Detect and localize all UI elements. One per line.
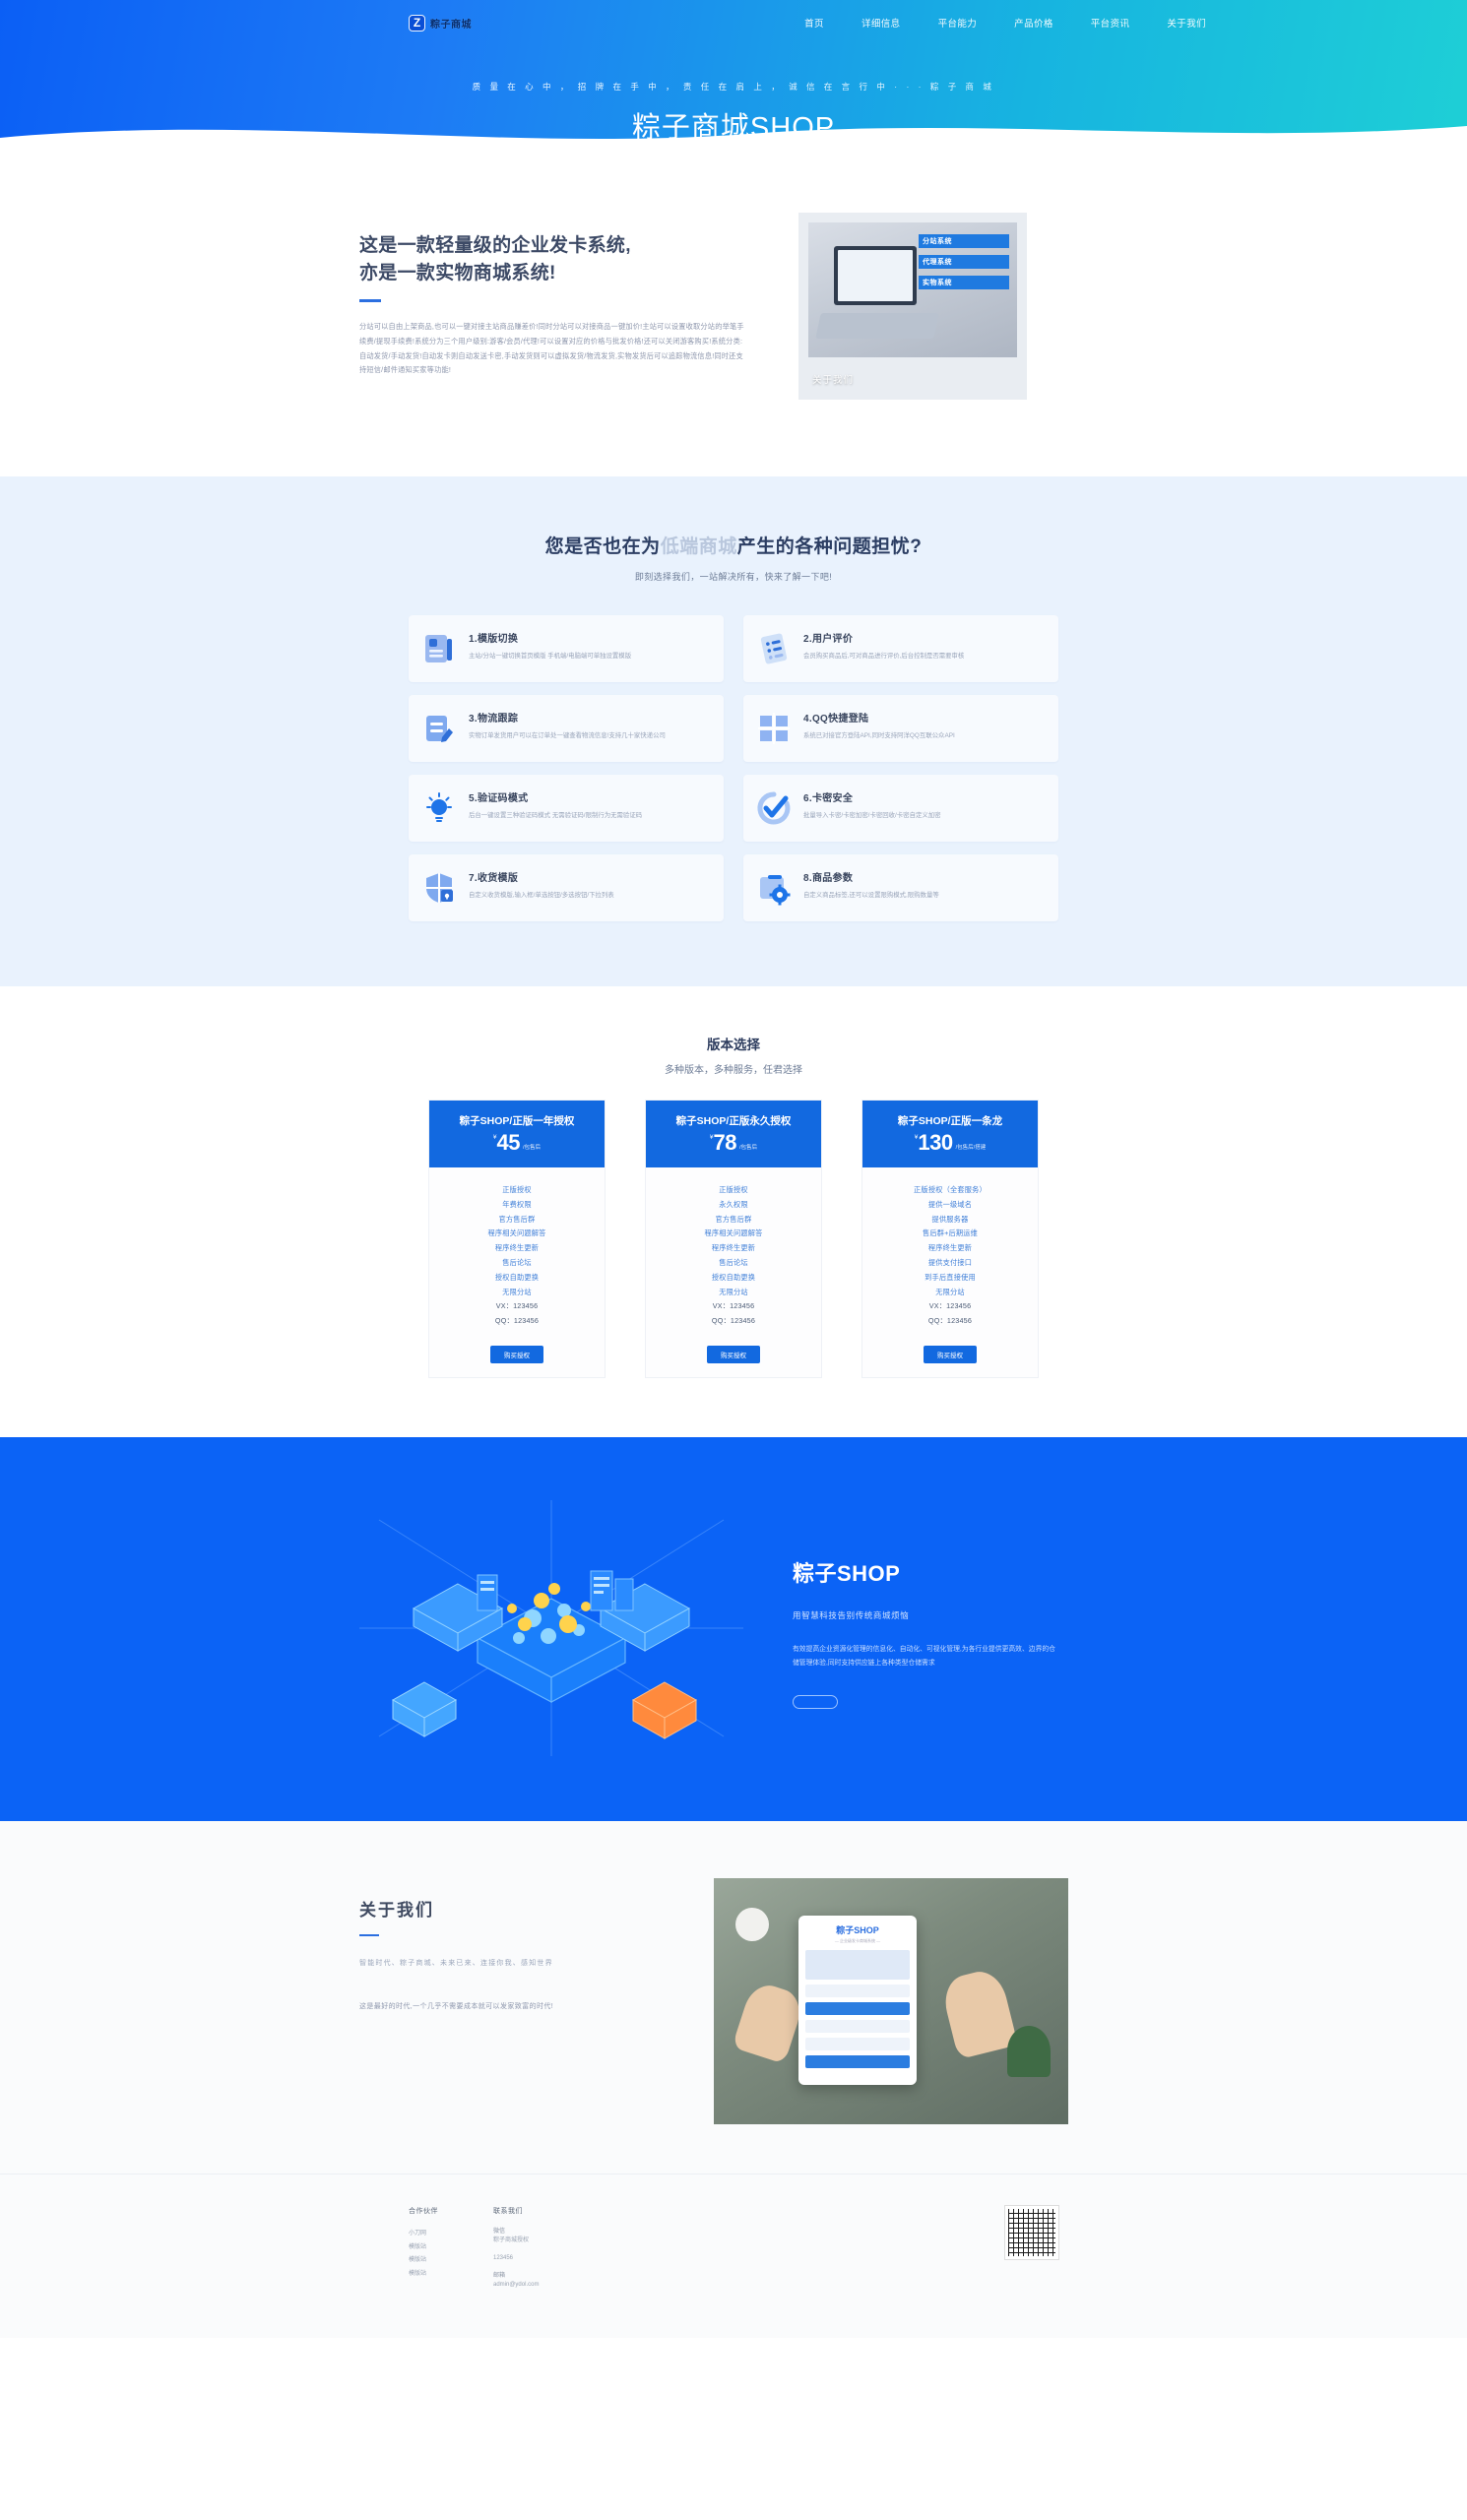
tablet-row	[805, 1984, 910, 1997]
tablet-row-highlight	[805, 2002, 910, 2015]
cta-learn-more-button[interactable]	[793, 1695, 838, 1709]
intro-rule	[359, 299, 381, 302]
brand-mark-icon: Z	[409, 15, 425, 31]
tablet-logo-main: 粽子	[836, 1925, 854, 1935]
footer-contact-wechat: 微信 粽子商城授权	[493, 2228, 539, 2245]
tablet-mockup: 粽子SHOP — 企业级发卡商城系统 —	[798, 1916, 917, 2085]
footer-contact-label: 邮箱	[493, 2272, 539, 2281]
plan-feature: 授权自助更换	[437, 1271, 597, 1286]
plan-feature: 提供服务器	[870, 1213, 1030, 1228]
plan-feature: 售后群+后期运维	[870, 1227, 1030, 1241]
intro-paragraph: 分站可以自由上架商品,也可以一键对接主站商品赚差价!同时分站可以对接商品一键加价…	[359, 320, 745, 378]
feature-desc: 主站/分站一键切换首页模版 手机端/电脑端可单独设置模版	[469, 651, 631, 661]
plant-prop	[1007, 2026, 1051, 2077]
problems-title-pre: 您是否也在为	[545, 536, 661, 557]
plan-features: 正版授权 年费权限 官方售后群 程序相关问题解答 程序终生更新 售后论坛 授权自…	[429, 1167, 605, 1339]
plan-feature: 无限分站	[654, 1286, 813, 1300]
footer-contact-label: 微信	[493, 2228, 539, 2236]
nav-item-pricing[interactable]: 产品价格	[1014, 16, 1053, 30]
plan-contact-vx: VX：123456	[654, 1299, 813, 1314]
plan-contact-vx: VX：123456	[437, 1299, 597, 1314]
plan-header: 粽子SHOP/正版一条龙 ¥ 130 /包售后/搭建	[862, 1101, 1038, 1167]
intro-text-block: 这是一款轻量级的企业发卡系统, 亦是一款实物商城系统! 分站可以自由上架商品,也…	[359, 213, 745, 378]
feature-desc: 实物订单发货用户可以在订单处一键查看物流信息!支持几十家快递公司	[469, 730, 666, 741]
about-rule	[359, 1934, 379, 1937]
cta-heading: 粽子SHOP	[793, 1556, 1058, 1588]
plan-feature: 年费权限	[437, 1198, 597, 1213]
footer-contact-email: 邮箱 admin@ydol.com	[493, 2272, 539, 2290]
footer-contact-column: 联系我们 微信 粽子商城授权 123456 邮箱 admin@ydol.com	[493, 2206, 539, 2299]
top-navbar: Z 粽子商城 首页 详细信息 平台能力 产品价格 平台资讯 关于我们	[153, 0, 1314, 45]
cta-subheading: 用智慧科技告别传统商城烦恼	[793, 1609, 1058, 1621]
landing-page: Z 粽子商城 首页 详细信息 平台能力 产品价格 平台资讯 关于我们 质 量 在…	[0, 0, 1467, 2338]
edit-doc-icon	[421, 711, 457, 746]
plan-name: 粽子SHOP/正版一年授权	[439, 1113, 595, 1129]
plan-currency: ¥	[493, 1134, 497, 1141]
check-icon	[756, 790, 792, 826]
plan-features: 正版授权 永久权限 官方售后群 程序相关问题解答 程序终生更新 售后论坛 授权自…	[646, 1167, 821, 1339]
pricing-plan-list: 粽子SHOP/正版一年授权 ¥ 45 /包售后 正版授权 年费权限 官方售后群 …	[428, 1100, 1039, 1378]
plan-feature: 授权自助更换	[654, 1271, 813, 1286]
buy-license-button[interactable]: 购买授权	[707, 1346, 760, 1363]
screenshot-label-3: 实物系统	[919, 276, 1009, 289]
qr-code-icon	[1005, 2206, 1058, 2259]
plan-period: /包售后/搭建	[956, 1143, 987, 1151]
tablet-row-highlight	[805, 2055, 910, 2068]
plan-feature: 正版授权	[437, 1183, 597, 1198]
plan-feature: 正版授权	[654, 1183, 813, 1198]
brand-name: 粽子商城	[430, 16, 472, 31]
nav-item-platform[interactable]: 平台能力	[938, 16, 978, 30]
coffee-cup-prop	[735, 1908, 769, 1941]
book-icon	[421, 631, 457, 666]
plan-currency: ¥	[915, 1134, 919, 1141]
buy-license-button[interactable]: 购买授权	[924, 1346, 977, 1363]
plan-feature: 官方售后群	[654, 1213, 813, 1228]
problems-title-muted: 低端商城	[661, 536, 737, 557]
feature-card-user-reviews[interactable]: 2.用户评价 会员购买商品后,可对商品进行评价,后台控制是否需要审核	[743, 615, 1058, 682]
plan-feature: 程序终生更新	[654, 1241, 813, 1256]
feature-title: 5.验证码模式	[469, 789, 642, 804]
plan-price: ¥ 45 /包售后	[439, 1133, 595, 1154]
about-paragraph: 这是最好的时代,一个几乎不需要成本就可以发家致富的时代!	[359, 2001, 655, 2011]
keyboard-icon	[815, 313, 939, 339]
intro-screenshot-card: 分站系统 代理系统 实物系统 关于我们	[798, 213, 1027, 400]
feature-title: 8.商品参数	[803, 869, 939, 884]
pricing-subtitle: 多种版本，多种服务，任君选择	[0, 1061, 1467, 1076]
feature-desc: 会员购买商品后,可对商品进行评价,后台控制是否需要审核	[803, 651, 964, 661]
feature-desc: 批量导入卡密/卡密加密/卡密回收/卡密自定义加密	[803, 810, 941, 821]
screenshot-caption: 关于我们	[812, 372, 854, 386]
feature-title: 4.QQ快捷登陆	[803, 710, 955, 724]
about-text-block: 关于我们 智能时代、粽子商城、未来已来、连接你我、感知世界 这是最好的时代,一个…	[359, 1878, 655, 2012]
about-tagline: 智能时代、粽子商城、未来已来、连接你我、感知世界	[359, 1958, 655, 1968]
feature-card-qq-login[interactable]: 4.QQ快捷登陆 系统已对接官方登陆API,同时支持阿洋QQ互联公众API	[743, 695, 1058, 762]
tablet-hero-banner	[805, 1950, 910, 1980]
footer-partner-link[interactable]: 模版站	[409, 2254, 438, 2268]
plan-currency: ¥	[710, 1134, 714, 1141]
feature-card-delivery-template[interactable]: 7.收货模版 自定义收货模版,输入框/单选按钮/多选按钮/下拉列表	[409, 854, 724, 921]
intro-section: 这是一款轻量级的企业发卡系统, 亦是一款实物商城系统! 分站可以自由上架商品,也…	[0, 150, 1467, 476]
shield-icon	[421, 870, 457, 906]
hero-section: Z 粽子商城 首页 详细信息 平台能力 产品价格 平台资讯 关于我们 质 量 在…	[0, 0, 1467, 150]
feature-desc: 系统已对接官方登陆API,同时支持阿洋QQ互联公众API	[803, 730, 955, 741]
plan-header: 粽子SHOP/正版一年授权 ¥ 45 /包售后	[429, 1101, 605, 1167]
review-icon	[756, 631, 792, 666]
plan-feature: 售后论坛	[437, 1256, 597, 1271]
intro-heading: 这是一款轻量级的企业发卡系统, 亦是一款实物商城系统!	[359, 232, 745, 286]
plan-period: /包售后	[523, 1143, 541, 1151]
nav-item-news[interactable]: 平台资讯	[1091, 16, 1130, 30]
plan-contact-qq: QQ：123456	[654, 1314, 813, 1329]
feature-title: 7.收货模版	[469, 869, 614, 884]
plan-cta-wrap: 购买授权	[429, 1339, 605, 1377]
pricing-plan-full-service: 粽子SHOP/正版一条龙 ¥ 130 /包售后/搭建 正版授权（全套服务） 提供…	[861, 1100, 1039, 1378]
pricing-plan-one-year: 粽子SHOP/正版一年授权 ¥ 45 /包售后 正版授权 年费权限 官方售后群 …	[428, 1100, 606, 1378]
plan-feature: 到手后直接使用	[870, 1271, 1030, 1286]
screenshot-label-1: 分站系统	[919, 234, 1009, 248]
footer-partner-link[interactable]: 模版站	[409, 2241, 438, 2255]
feature-card-captcha[interactable]: 5.验证码模式 后台一键设置三种验证码模式 无需验证码/限制行为无需验证码	[409, 775, 724, 842]
plan-amount: 130	[918, 1133, 952, 1154]
feature-desc: 自定义商品标签,还可以设置限购模式,限购数量等	[803, 890, 939, 901]
about-heading: 关于我们	[359, 1896, 655, 1921]
tablet-row	[805, 2038, 910, 2050]
plan-cta-wrap: 购买授权	[862, 1339, 1038, 1377]
plan-price: ¥ 130 /包售后/搭建	[872, 1133, 1028, 1154]
plan-feature: 程序相关问题解答	[654, 1227, 813, 1241]
problems-section: 您是否也在为低端商城产生的各种问题担忧? 即刻选择我们，一站解决所有，快来了解一…	[0, 476, 1467, 986]
problems-title-post: 产生的各种问题担忧?	[737, 536, 923, 557]
hero-tagline: 质 量 在 心 中 ， 招 牌 在 手 中 ， 责 任 在 肩 上 ， 诚 信 …	[0, 81, 1467, 93]
tablet-logo: 粽子SHOP	[805, 1923, 910, 1936]
cta-text-block: 粽子SHOP 用智慧科技告别传统商城烦恼 有效提高企业资源化管理的信息化、自动化…	[793, 1546, 1058, 1709]
pricing-plan-permanent: 粽子SHOP/正版永久授权 ¥ 78 /包售后 正版授权 永久权限 官方售后群 …	[645, 1100, 822, 1378]
screenshot-image: 分站系统 代理系统 实物系统	[808, 222, 1017, 357]
footer-contact-title: 联系我们	[493, 2206, 539, 2216]
nav-item-about[interactable]: 关于我们	[1167, 16, 1206, 30]
plan-feature: 提供支付接口	[870, 1256, 1030, 1271]
plan-amount: 78	[714, 1133, 736, 1154]
feature-card-template-switch[interactable]: 1.模版切换 主站/分站一键切换首页模版 手机端/电脑端可单独设置模版	[409, 615, 724, 682]
footer-contact-value: admin@ydol.com	[493, 2282, 539, 2288]
plan-price: ¥ 78 /包售后	[656, 1133, 811, 1154]
footer-partner-link[interactable]: 小刀网	[409, 2228, 438, 2241]
plan-period: /包售后	[739, 1143, 757, 1151]
hero-title: 粽子商城SHOP	[0, 104, 1467, 146]
hand-right-prop	[939, 1967, 1018, 2060]
feature-title: 2.用户评价	[803, 630, 964, 645]
pricing-title: 版本选择	[0, 1034, 1467, 1053]
footer-partners-title: 合作伙伴	[409, 2206, 438, 2216]
footer-partner-link[interactable]: 模版站	[409, 2268, 438, 2282]
feature-card-grid: 1.模版切换 主站/分站一键切换首页模版 手机端/电脑端可单独设置模版 2.用户…	[409, 615, 1058, 921]
plan-feature: 程序终生更新	[437, 1241, 597, 1256]
site-footer: 合作伙伴 小刀网 模版站 模版站 模版站 联系我们 微信 粽子商城授权 1234…	[0, 2173, 1467, 2338]
screenshot-label-2: 代理系统	[919, 255, 1009, 269]
plan-feature: 正版授权（全套服务）	[870, 1183, 1030, 1198]
plan-feature: 程序终生更新	[870, 1241, 1030, 1256]
plan-cta-wrap: 购买授权	[646, 1339, 821, 1377]
pricing-section: 版本选择 多种版本，多种服务，任君选择 粽子SHOP/正版一年授权 ¥ 45 /…	[0, 986, 1467, 1437]
plan-features: 正版授权（全套服务） 提供一级域名 提供服务器 售后群+后期运维 程序终生更新 …	[862, 1167, 1038, 1339]
about-section: 关于我们 智能时代、粽子商城、未来已来、连接你我、感知世界 这是最好的时代,一个…	[0, 1821, 1467, 2173]
monitor-icon	[834, 246, 917, 305]
qq-grid-icon	[756, 711, 792, 746]
plan-feature: 程序相关问题解答	[437, 1227, 597, 1241]
tablet-logo-sub: — 企业级发卡商城系统 —	[805, 1938, 910, 1944]
about-photo: 粽子SHOP — 企业级发卡商城系统 —	[714, 1878, 1068, 2124]
feature-title: 6.卡密安全	[803, 789, 941, 804]
tablet-row	[805, 2020, 910, 2033]
plan-contact-qq: QQ：123456	[437, 1314, 597, 1329]
nav-item-home[interactable]: 首页	[804, 16, 824, 30]
plan-feature: 售后论坛	[654, 1256, 813, 1271]
plan-feature: 提供一级域名	[870, 1198, 1030, 1213]
plan-name: 粽子SHOP/正版一条龙	[872, 1113, 1028, 1129]
gear-box-icon	[756, 870, 792, 906]
footer-partners-column: 合作伙伴 小刀网 模版站 模版站 模版站	[409, 2206, 438, 2299]
problems-subtitle: 即刻选择我们，一站解决所有，快来了解一下吧!	[0, 570, 1467, 583]
plan-feature: 无限分站	[870, 1286, 1030, 1300]
plan-name: 粽子SHOP/正版永久授权	[656, 1113, 811, 1129]
feature-title: 3.物流跟踪	[469, 710, 666, 724]
feature-card-logistics[interactable]: 3.物流跟踪 实物订单发货用户可以在订单处一键查看物流信息!支持几十家快递公司	[409, 695, 724, 762]
feature-card-product-params[interactable]: 8.商品参数 自定义商品标签,还可以设置限购模式,限购数量等	[743, 854, 1058, 921]
plan-contact-vx: VX：123456	[870, 1299, 1030, 1314]
brand-logo[interactable]: Z 粽子商城	[409, 15, 472, 31]
plan-amount: 45	[497, 1133, 520, 1154]
feature-desc: 后台一键设置三种验证码模式 无需验证码/限制行为无需验证码	[469, 810, 642, 821]
feature-card-card-security[interactable]: 6.卡密安全 批量导入卡密/卡密加密/卡密回收/卡密自定义加密	[743, 775, 1058, 842]
screenshot-labels: 分站系统 代理系统 实物系统	[919, 234, 1009, 296]
nav-item-details[interactable]: 详细信息	[861, 16, 901, 30]
footer-contact-value: 粽子商城授权	[493, 2237, 529, 2243]
footer-contact-value: 123456	[493, 2255, 513, 2261]
plan-feature: 无限分站	[437, 1286, 597, 1300]
buy-license-button[interactable]: 购买授权	[490, 1346, 543, 1363]
plan-contact-qq: QQ：123456	[870, 1314, 1030, 1329]
feature-desc: 自定义收货模版,输入框/单选按钮/多选按钮/下拉列表	[469, 890, 614, 901]
cta-paragraph: 有效提高企业资源化管理的信息化、自动化、可视化管理,为各行业提供更高效、边界的仓…	[793, 1643, 1058, 1669]
tablet-logo-accent: SHOP	[854, 1925, 879, 1935]
feature-title: 1.模版切换	[469, 630, 631, 645]
plan-feature: 官方售后群	[437, 1213, 597, 1228]
footer-qr-column	[1005, 2206, 1058, 2299]
footer-contact-number: 123456	[493, 2254, 539, 2263]
isometric-illustration	[340, 1480, 763, 1776]
nav-links: 首页 详细信息 平台能力 产品价格 平台资讯 关于我们	[804, 16, 1206, 30]
cta-banner-section: 粽子SHOP 用智慧科技告别传统商城烦恼 有效提高企业资源化管理的信息化、自动化…	[0, 1437, 1467, 1821]
problems-title: 您是否也在为低端商城产生的各种问题担忧?	[0, 532, 1467, 558]
plan-header: 粽子SHOP/正版永久授权 ¥ 78 /包售后	[646, 1101, 821, 1167]
bulb-icon	[421, 790, 457, 826]
plan-feature: 永久权限	[654, 1198, 813, 1213]
hand-left-prop	[732, 1980, 806, 2064]
